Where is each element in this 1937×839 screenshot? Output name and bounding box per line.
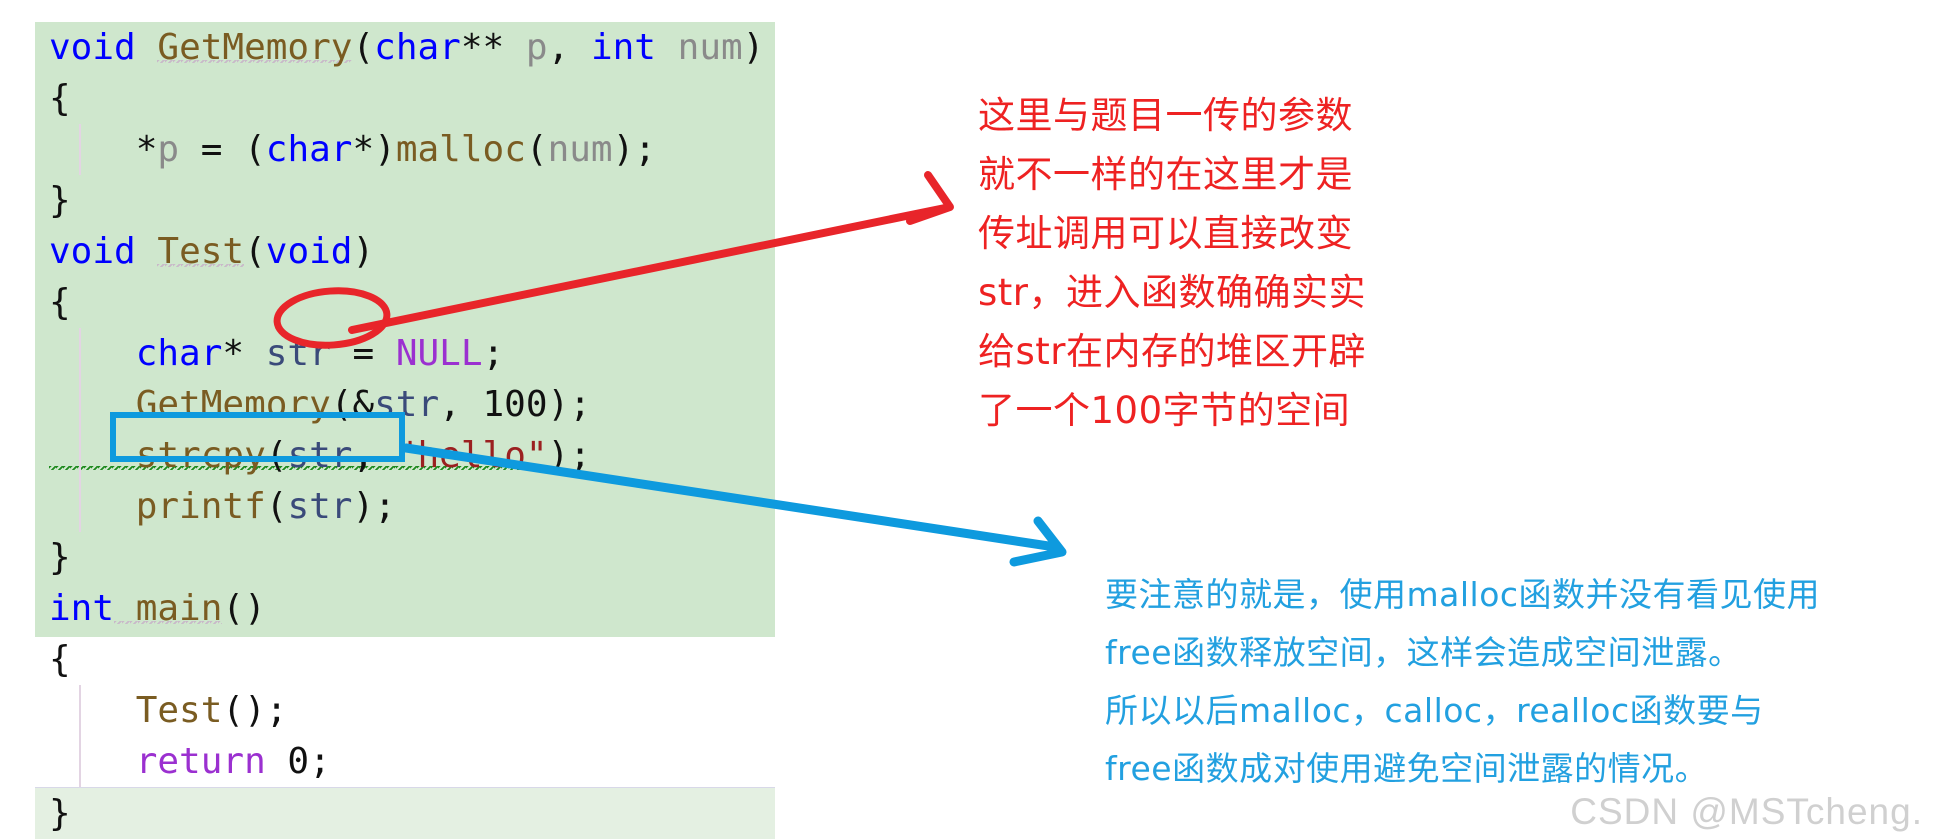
code-line-2: { bbox=[35, 73, 775, 124]
token-function-getmemory: GetMemory bbox=[157, 27, 352, 68]
screenshot-root: void GetMemory(char** p, int num) { *p =… bbox=[0, 0, 1937, 839]
token-brace-open: { bbox=[49, 78, 71, 119]
blue-note-line-1: 要注意的就是，使用malloc函数并没有看见使用 bbox=[1105, 566, 1820, 624]
token-cast-close: *) bbox=[352, 129, 395, 170]
indent-guide bbox=[79, 430, 81, 481]
token-stmt-end: ; bbox=[309, 741, 331, 782]
red-note-line-2: 就不一样的在这里才是 bbox=[978, 145, 1366, 204]
red-note-line-4: str，进入函数确确实实 bbox=[978, 263, 1366, 322]
token-brace-close: } bbox=[49, 793, 71, 834]
token-deref: * bbox=[49, 129, 157, 170]
indent-guide bbox=[79, 379, 81, 430]
red-annotation-note: 这里与题目一传的参数 就不一样的在这里才是 传址调用可以直接改变 str，进入函… bbox=[978, 86, 1366, 440]
indent-guide bbox=[79, 736, 81, 787]
code-line-4: } bbox=[35, 175, 775, 226]
code-line-7: char* str = NULL; bbox=[35, 328, 775, 379]
token-keyword-char: char bbox=[374, 27, 461, 68]
token-paren: ( bbox=[266, 486, 288, 527]
token-pointer: ** bbox=[461, 27, 526, 68]
token-assign: = bbox=[331, 333, 396, 374]
token-keyword-return: return bbox=[49, 741, 266, 782]
indent-guide bbox=[79, 481, 81, 532]
token-paren-close: ) bbox=[352, 231, 374, 272]
token-keyword-void: void bbox=[266, 231, 353, 272]
code-line-13: { bbox=[35, 634, 775, 685]
token-call-end: (); bbox=[222, 690, 287, 731]
token-paren: ( bbox=[352, 27, 374, 68]
token-args-rest: , 100); bbox=[439, 384, 591, 425]
code-block[interactable]: void GetMemory(char** p, int num) { *p =… bbox=[35, 22, 775, 637]
code-line-14: Test(); bbox=[35, 685, 775, 736]
red-note-line-6: 了一个100字节的空间 bbox=[978, 381, 1366, 440]
token-keyword-void: void bbox=[49, 27, 136, 68]
red-arrowhead bbox=[910, 175, 950, 221]
token-param-num: num bbox=[656, 27, 743, 68]
token-macro-null: NULL bbox=[396, 333, 483, 374]
token-literal-zero: 0 bbox=[266, 741, 309, 782]
token-parens: () bbox=[222, 588, 265, 629]
token-brace-open: { bbox=[49, 282, 71, 323]
blue-highlight-rectangle bbox=[110, 412, 405, 462]
token-keyword-char: char bbox=[266, 129, 353, 170]
token-function-test: Test bbox=[49, 690, 222, 731]
csdn-watermark: CSDN @MSTcheng. bbox=[1570, 791, 1923, 833]
token-function-test: Test bbox=[157, 231, 244, 272]
token-pointer: * bbox=[222, 333, 265, 374]
token-stmt-end: ); bbox=[352, 486, 395, 527]
token-paren-close: ) bbox=[743, 27, 765, 68]
red-note-line-5: 给str在内存的堆区开辟 bbox=[978, 322, 1366, 381]
token-brace-open: { bbox=[49, 639, 71, 680]
token-comma: , bbox=[548, 27, 591, 68]
blue-note-line-3: 所以以后malloc，calloc，realloc函数要与 bbox=[1105, 682, 1820, 740]
token-keyword-void: void bbox=[49, 231, 136, 272]
red-note-line-1: 这里与题目一传的参数 bbox=[978, 86, 1366, 145]
indent-guide bbox=[79, 685, 81, 736]
token-stmt-end: ); bbox=[613, 129, 656, 170]
code-line-15: return 0; bbox=[35, 736, 775, 787]
token-keyword-char: char bbox=[49, 333, 222, 374]
code-line-1: void GetMemory(char** p, int num) bbox=[35, 22, 775, 73]
indent-guide bbox=[79, 328, 81, 379]
token-string-hello: "hello" bbox=[396, 435, 548, 476]
token-brace-close: } bbox=[49, 180, 71, 221]
token-assign: = ( bbox=[179, 129, 266, 170]
token-var-num: num bbox=[548, 129, 613, 170]
blue-note-line-2: free函数释放空间，这样会造成空间泄露。 bbox=[1105, 624, 1820, 682]
token-var-str: str bbox=[266, 333, 331, 374]
token-function-printf: printf bbox=[49, 486, 266, 527]
token-stmt-end: ); bbox=[548, 435, 591, 476]
code-line-6: { bbox=[35, 277, 775, 328]
token-param-p: p bbox=[526, 27, 548, 68]
red-note-line-3: 传址调用可以直接改变 bbox=[978, 204, 1366, 263]
code-line-5: void Test(void) bbox=[35, 226, 775, 277]
code-line-12: int main() bbox=[35, 583, 775, 634]
token-keyword-int: int bbox=[49, 588, 114, 629]
token-stmt-end: ; bbox=[483, 333, 505, 374]
blue-arrowhead bbox=[1014, 521, 1062, 562]
token-var-str: str bbox=[287, 486, 352, 527]
blue-note-line-4: free函数成对使用避免空间泄露的情况。 bbox=[1105, 740, 1820, 798]
indent-guide bbox=[79, 124, 81, 175]
code-line-11: } bbox=[35, 532, 775, 583]
token-var-p: p bbox=[157, 129, 179, 170]
code-line-10: printf(str); bbox=[35, 481, 775, 532]
token-function-malloc: malloc bbox=[396, 129, 526, 170]
token-function-main: main bbox=[114, 588, 222, 629]
token-brace-close: } bbox=[49, 537, 71, 578]
code-line-16: } bbox=[35, 787, 775, 839]
token-paren: ( bbox=[526, 129, 548, 170]
code-line-3: *p = (char*)malloc(num); bbox=[35, 124, 775, 175]
blue-annotation-note: 要注意的就是，使用malloc函数并没有看见使用 free函数释放空间，这样会造… bbox=[1105, 566, 1820, 798]
token-paren: ( bbox=[244, 231, 266, 272]
token-keyword-int: int bbox=[591, 27, 656, 68]
